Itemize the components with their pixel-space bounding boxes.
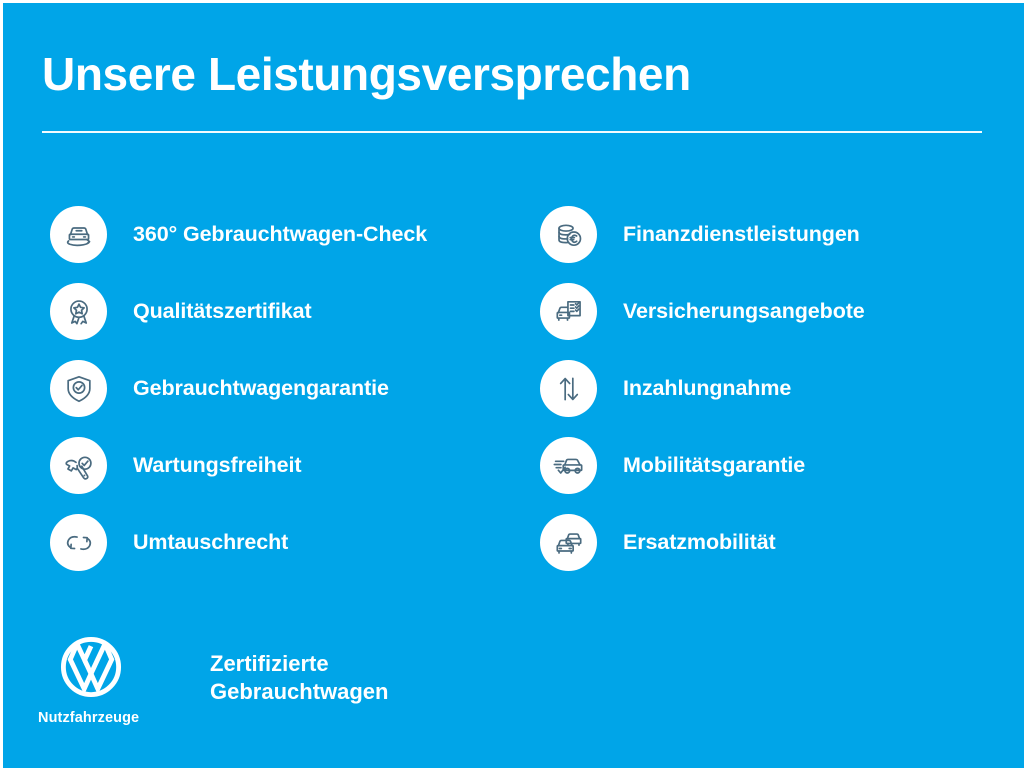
promise-column-left: 360° Gebrauchtwagen-Check Qualitätszerti… [0, 196, 520, 581]
car-360-check-icon [50, 206, 107, 263]
promise-label: Inzahlungnahme [623, 376, 791, 401]
title-block: Unsere Leistungsversprechen [42, 50, 982, 98]
frame-edge-top [0, 0, 1024, 3]
promise-label: Umtauschrecht [133, 530, 288, 555]
slide-canvas: Unsere Leistungsversprechen 360° G [0, 0, 1024, 768]
award-rosette-icon [50, 283, 107, 340]
promise-label: Finanzdienstleistungen [623, 222, 860, 247]
promise-item-inzahlungnahme[interactable]: Inzahlungnahme [540, 350, 1024, 427]
promise-item-qualitaetszertifikat[interactable]: Qualitätszertifikat [50, 273, 520, 350]
promise-label: 360° Gebrauchtwagen-Check [133, 222, 427, 247]
brand-subline: Nutzfahrzeuge [38, 710, 150, 726]
brand-claim-line2: Gebrauchtwagen [210, 678, 388, 706]
vw-logo [60, 636, 122, 698]
exchange-arrows-icon [50, 514, 107, 571]
promise-item-umtauschrecht[interactable]: Umtauschrecht [50, 504, 520, 581]
title-divider [42, 131, 982, 133]
brand-mark: Nutzfahrzeuge [38, 636, 150, 726]
arrows-up-down-icon [540, 360, 597, 417]
promise-item-mobilitaetsgarantie[interactable]: Mobilitätsgarantie [540, 427, 1024, 504]
promise-list: 360° Gebrauchtwagen-Check Qualitätszerti… [0, 196, 1024, 581]
shield-check-icon [50, 360, 107, 417]
promise-label: Gebrauchtwagengarantie [133, 376, 389, 401]
promise-item-ersatzmobilitaet[interactable]: Ersatzmobilität [540, 504, 1024, 581]
promise-label: Versicherungsangebote [623, 299, 865, 324]
brand-claim: Zertifizierte Gebrauchtwagen [210, 650, 388, 706]
promise-column-right: Finanzdienstleistungen [520, 196, 1024, 581]
two-cars-icon [540, 514, 597, 571]
car-document-check-icon [540, 283, 597, 340]
promise-label: Qualitätszertifikat [133, 299, 312, 324]
promise-item-gebrauchtwagengarantie[interactable]: Gebrauchtwagengarantie [50, 350, 520, 427]
page-title: Unsere Leistungsversprechen [42, 50, 982, 98]
promise-item-finanzdienstleistungen[interactable]: Finanzdienstleistungen [540, 196, 1024, 273]
coins-euro-icon [540, 206, 597, 263]
brand-claim-line1: Zertifizierte [210, 650, 388, 678]
promise-label: Mobilitätsgarantie [623, 453, 805, 478]
promise-item-360-check[interactable]: 360° Gebrauchtwagen-Check [50, 196, 520, 273]
promise-label: Wartungsfreiheit [133, 453, 301, 478]
wrench-check-icon [50, 437, 107, 494]
promise-item-wartungsfreiheit[interactable]: Wartungsfreiheit [50, 427, 520, 504]
promise-item-versicherungsangebote[interactable]: Versicherungsangebote [540, 273, 1024, 350]
brand-lockup: Nutzfahrzeuge Zertifizierte Gebrauchtwag… [38, 636, 388, 726]
car-speed-check-icon [540, 437, 597, 494]
promise-label: Ersatzmobilität [623, 530, 776, 555]
